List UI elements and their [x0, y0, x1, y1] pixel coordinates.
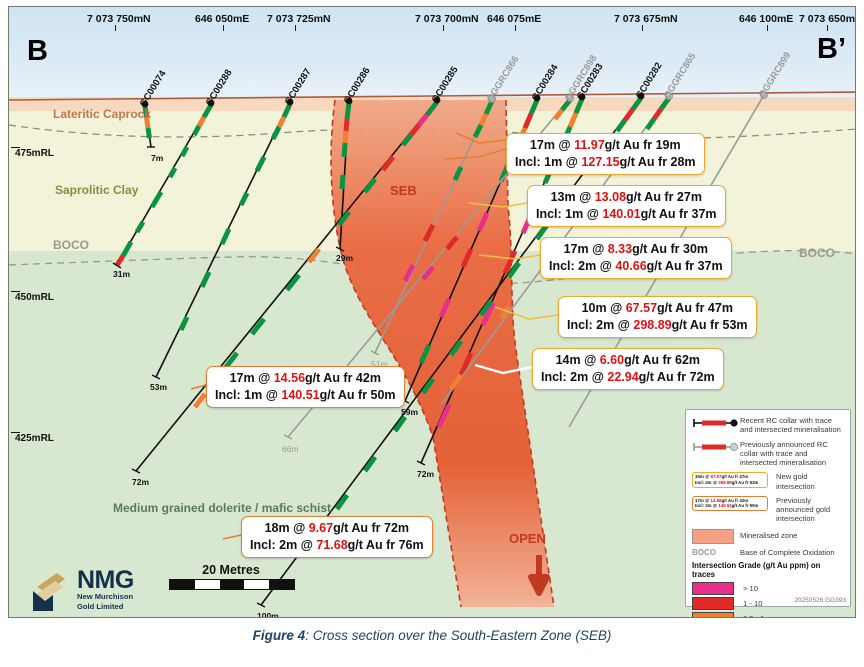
callout-grade: 67.57 — [626, 301, 657, 315]
coordinate-tick-2 — [295, 25, 296, 31]
callout-incl-from: g/t Au fr 72m — [639, 370, 715, 384]
end-of-hole-label-GC00282: 100m — [257, 611, 279, 618]
callout-interval: 13m @ — [551, 190, 595, 204]
new-intersection-sample-box: 10m @ 67.57g/t Au fr 47m Incl: 2m @ 298.… — [692, 472, 772, 487]
coordinate-label-3: 7 073 700mN — [415, 13, 479, 25]
legend-recent-collar-row: Recent RC collar with trace and intersec… — [692, 416, 844, 435]
mineralised-zone-label: Mineralised zone — [740, 531, 844, 540]
grade-legend-row-2: 0.5 - 1 — [692, 612, 844, 618]
end-of-hole-label-OGGRC898: 66m — [282, 444, 299, 454]
figure-caption: Figure 4: Cross section over the South-E… — [0, 628, 864, 643]
caption-text: : Cross section over the South-Eastern Z… — [305, 628, 611, 643]
callout-line2: Incl: 1m @ 127.15g/t Au fr 28m — [515, 154, 696, 171]
callout-grade: 8.33 — [608, 242, 632, 256]
end-of-hole-label-GC00283: 72m — [417, 469, 434, 479]
intersection-callout-int-7: 18m @ 9.67g/t Au fr 72mIncl: 2m @ 71.68g… — [241, 516, 433, 558]
previous-intersection-label: Previously announced gold intersection — [772, 496, 844, 524]
grade-range-label-2: 0.5 - 1 — [743, 614, 765, 618]
end-of-hole-label-GC00288: 31m — [113, 269, 130, 279]
legend-previous-collar-row: Previously announced RC collar with trac… — [692, 440, 844, 468]
grade-swatch-2 — [692, 612, 734, 618]
coordinate-label-6: 646 100mE — [739, 13, 793, 25]
coordinate-tick-1 — [223, 25, 224, 31]
callout-incl-from: g/t Au fr 28m — [620, 155, 696, 169]
legend-panel: Recent RC collar with trace and intersec… — [685, 409, 851, 607]
callout-from: g/t Au fr 72m — [333, 521, 409, 535]
end-of-hole-label-GC00285: 72m — [132, 477, 149, 487]
callout-line2: Incl: 2m @ 22.94g/t Au fr 72m — [541, 369, 715, 386]
callout-line2: Incl: 2m @ 40.66g/t Au fr 37m — [549, 258, 723, 275]
callout-interval: 17m @ — [530, 138, 574, 152]
callout-interval: 14m @ — [556, 353, 600, 367]
figure-id-label: 20250526 GG393 — [794, 597, 846, 604]
callout-line2: Incl: 1m @ 140.51g/t Au fr 50m — [215, 387, 396, 404]
callout-incl-grade: 140.01 — [602, 207, 640, 221]
unit-label-2: Medium grained dolerite / mafic schist — [113, 501, 331, 515]
open-label: OPEN — [509, 531, 546, 546]
callout-grade: 9.67 — [309, 521, 333, 535]
callout-incl-interval: Incl: 2m @ — [549, 259, 615, 273]
boco-key-label: BOCO — [692, 548, 740, 557]
callout-from: g/t Au fr 62m — [624, 353, 700, 367]
coordinate-label-4: 646 075mE — [487, 13, 541, 25]
recent-collar-label: Recent RC collar with trace and intersec… — [740, 416, 844, 435]
callout-grade: 11.97 — [574, 138, 605, 152]
callout-incl-grade: 140.51 — [281, 388, 319, 402]
callout-line1: 18m @ 9.67g/t Au fr 72m — [250, 520, 424, 537]
elevation-tick-2 — [11, 432, 20, 433]
end-of-hole-label-GC00287: 53m — [150, 382, 167, 392]
callout-incl-from: g/t Au fr 76m — [348, 538, 424, 552]
grade-range-label-0: > 10 — [743, 584, 758, 593]
intersection-callout-int-6: 17m @ 14.56g/t Au fr 42mIncl: 1m @ 140.5… — [206, 366, 405, 408]
grade-swatch-0 — [692, 582, 734, 595]
logo-sub-line1: New Murchison — [77, 592, 134, 601]
callout-grade: 6.60 — [600, 353, 624, 367]
intersection-callout-int-3: 17m @ 8.33g/t Au fr 30mIncl: 2m @ 40.66g… — [540, 237, 732, 279]
grade-legend-title: Intersection Grade (g/t Au ppm) on trace… — [692, 561, 844, 579]
callout-line1: 10m @ 67.57g/t Au fr 47m — [567, 300, 748, 317]
elevation-label-2: 425mRL — [15, 433, 54, 444]
grade-swatch-1 — [692, 597, 734, 610]
caption-figure-number: Figure 4 — [253, 628, 306, 643]
elevation-tick-1 — [11, 291, 20, 292]
scale-bar-graphic — [169, 579, 295, 590]
elevation-tick-0 — [11, 147, 20, 148]
logo-sub-line2: Gold Limited — [77, 602, 134, 611]
intersection-callout-int-1: 17m @ 11.97g/t Au fr 19mIncl: 1m @ 127.1… — [506, 133, 705, 175]
callout-from: g/t Au fr 30m — [632, 242, 708, 256]
callout-line1: 17m @ 11.97g/t Au fr 19m — [515, 137, 696, 154]
section-start-label: B — [27, 35, 48, 68]
callout-incl-grade: 127.15 — [581, 155, 619, 169]
callout-incl-from: g/t Au fr 50m — [320, 388, 396, 402]
coordinate-label-7: 7 073 650mN — [799, 13, 856, 25]
callout-incl-grade: 22.94 — [607, 370, 638, 384]
callout-incl-from: g/t Au fr 37m — [647, 259, 723, 273]
coordinate-tick-3 — [443, 25, 444, 31]
unit-label-0: Lateritic Caprock — [53, 107, 151, 121]
callout-incl-interval: Incl: 1m @ — [536, 207, 602, 221]
callout-line1: 14m @ 6.60g/t Au fr 62m — [541, 352, 715, 369]
nmg-logo-mark — [27, 567, 73, 613]
intersection-callout-int-5: 14m @ 6.60g/t Au fr 62mIncl: 2m @ 22.94g… — [532, 348, 724, 390]
coordinate-tick-4 — [515, 25, 516, 31]
recent-collar-icon — [692, 416, 740, 430]
callout-line1: 13m @ 13.08g/t Au fr 27m — [536, 189, 717, 206]
intersection-callout-int-4: 10m @ 67.57g/t Au fr 47mIncl: 2m @ 298.8… — [558, 296, 757, 338]
grade-range-label-1: 1 - 10 — [743, 599, 762, 608]
legend-new-intersection-row: 10m @ 67.57g/t Au fr 47m Incl: 2m @ 298.… — [692, 472, 844, 491]
elevation-label-1: 450mRL — [15, 292, 54, 303]
end-of-hole-label-GC00074: 7m — [151, 153, 163, 163]
coordinate-tick-7 — [827, 25, 828, 31]
callout-interval: 17m @ — [564, 242, 608, 256]
callout-grade: 13.08 — [595, 190, 626, 204]
callout-from: g/t Au fr 42m — [305, 371, 381, 385]
callout-incl-interval: Incl: 1m @ — [215, 388, 281, 402]
nmg-logo: NMG New Murchison Gold Limited — [27, 567, 134, 613]
legend-mineralised-zone-row: Mineralised zone — [692, 529, 844, 544]
callout-line2: Incl: 2m @ 71.68g/t Au fr 76m — [250, 537, 424, 554]
intersection-callout-int-2: 13m @ 13.08g/t Au fr 27mIncl: 1m @ 140.0… — [527, 185, 726, 227]
coordinate-label-5: 7 073 675mN — [614, 13, 678, 25]
previous-collar-icon — [692, 440, 740, 454]
coordinate-label-1: 646 050mE — [195, 13, 249, 25]
scale-bar-label: 20 Metres — [169, 563, 293, 577]
callout-incl-interval: Incl: 2m @ — [541, 370, 607, 384]
callout-incl-grade: 71.68 — [316, 538, 347, 552]
coordinate-label-2: 7 073 725mN — [267, 13, 331, 25]
section-end-label: B’ — [817, 33, 846, 66]
callout-interval: 17m @ — [230, 371, 274, 385]
callout-from: g/t Au fr 27m — [626, 190, 702, 204]
callout-incl-interval: Incl: 2m @ — [567, 318, 633, 332]
boco-description-label: Base of Complete Oxidation — [740, 548, 844, 557]
callout-from: g/t Au fr 47m — [657, 301, 733, 315]
coordinate-tick-5 — [642, 25, 643, 31]
boco-label-0: BOCO — [53, 238, 89, 252]
new-intersection-label: New gold intersection — [772, 472, 844, 491]
coordinate-tick-0 — [115, 25, 116, 31]
callout-incl-grade: 298.89 — [633, 318, 671, 332]
elevation-label-0: 475mRL — [15, 148, 54, 159]
coordinate-label-0: 7 073 750mN — [87, 13, 151, 25]
callout-incl-from: g/t Au fr 53m — [672, 318, 748, 332]
end-of-hole-label-GC00286: 29m — [336, 253, 353, 263]
callout-incl-interval: Incl: 1m @ — [515, 155, 581, 169]
unit-label-1: Saprolitic Clay — [55, 183, 138, 197]
coordinate-tick-6 — [767, 25, 768, 31]
callout-interval: 10m @ — [582, 301, 626, 315]
callout-line1: 17m @ 8.33g/t Au fr 30m — [549, 241, 723, 258]
callout-incl-interval: Incl: 2m @ — [250, 538, 316, 552]
previous-intersection-sample-box: 17m @ 14.56g/t Au fr 42m Incl: 2m @ 140.… — [692, 496, 772, 511]
end-of-hole-label-GC00284: 59m — [401, 407, 418, 417]
scale-bar: 20 Metres — [169, 563, 295, 590]
callout-line2: Incl: 1m @ 140.01g/t Au fr 37m — [536, 206, 717, 223]
callout-from: g/t Au fr 19m — [605, 138, 681, 152]
callout-incl-grade: 40.66 — [615, 259, 646, 273]
previous-collar-label: Previously announced RC collar with trac… — [740, 440, 844, 468]
boco-label-1: BOCO — [799, 246, 835, 260]
legend-previous-intersection-row: 17m @ 14.56g/t Au fr 42m Incl: 2m @ 140.… — [692, 496, 844, 524]
callout-line2: Incl: 2m @ 298.89g/t Au fr 53m — [567, 317, 748, 334]
callout-interval: 18m @ — [265, 521, 309, 535]
cross-section-figure: 7 073 750mN646 050mE7 073 725mN7 073 700… — [8, 6, 856, 618]
seb-zone-label: SEB — [390, 183, 417, 198]
callout-incl-from: g/t Au fr 37m — [641, 207, 717, 221]
grade-legend-row-0: > 10 — [692, 582, 844, 595]
callout-grade: 14.56 — [274, 371, 305, 385]
mineralised-zone-swatch — [692, 529, 740, 544]
callout-line1: 17m @ 14.56g/t Au fr 42m — [215, 370, 396, 387]
legend-boco-row: BOCO Base of Complete Oxidation — [692, 548, 844, 557]
logo-name: NMG — [77, 569, 134, 592]
